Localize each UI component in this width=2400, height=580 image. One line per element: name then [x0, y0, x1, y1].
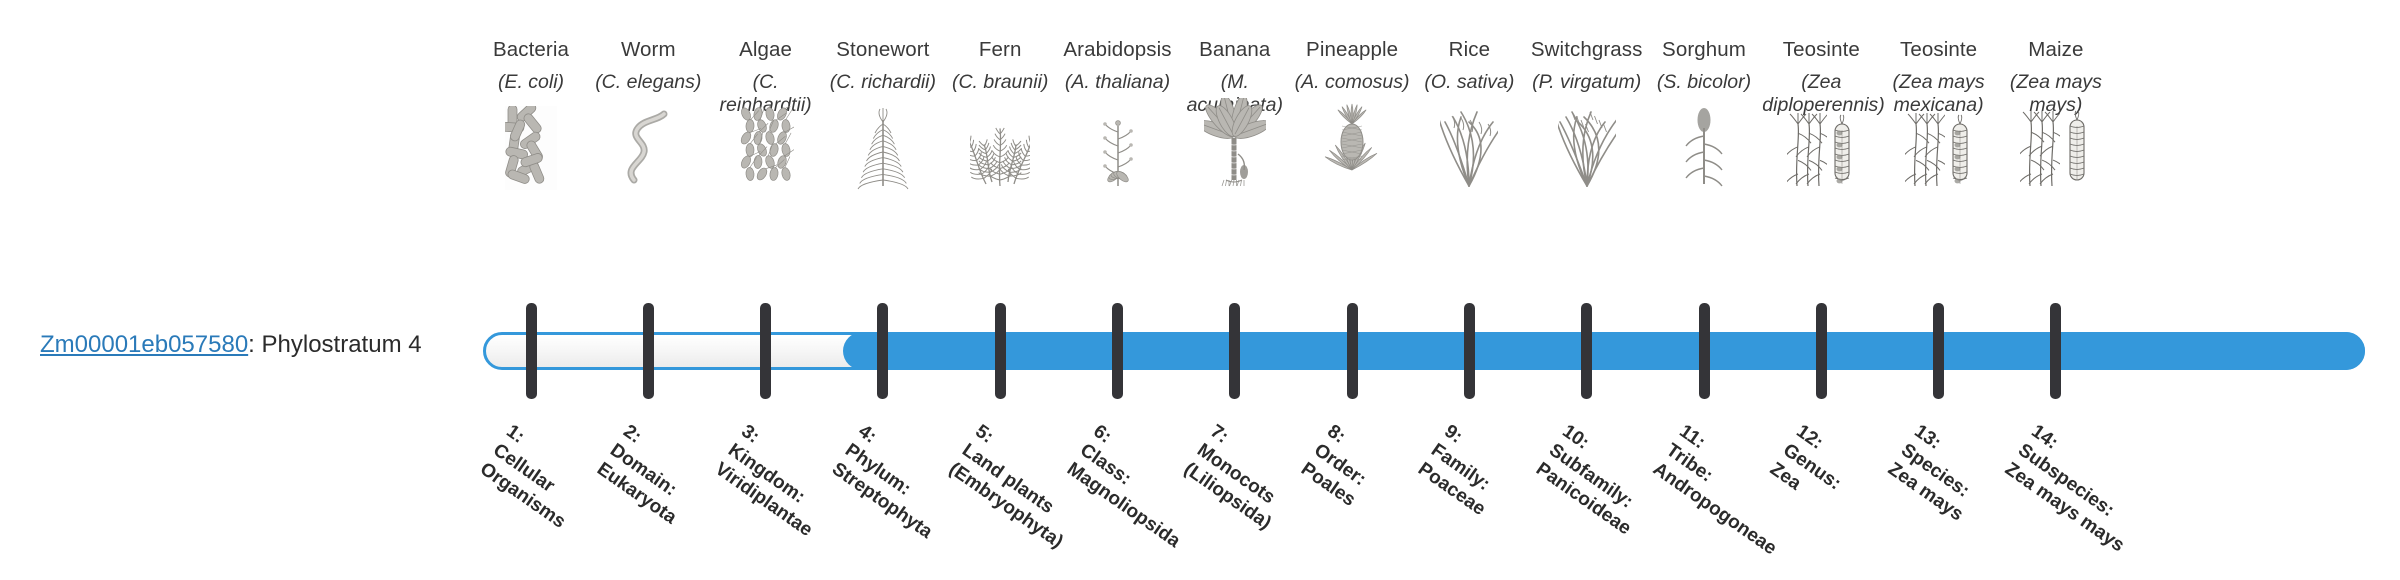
species-scientific-name: (O. sativa): [1410, 71, 1528, 94]
taxonomy-label-4: 4: Phylum: Streptophyta: [827, 420, 963, 544]
taxonomy-label-11: 11: Tribe: Andropogoneae: [1648, 420, 1807, 560]
label-separator: :: [248, 331, 261, 358]
gene-id-link[interactable]: Zm00001eb057580: [40, 331, 248, 358]
phylostratum-timeline: Zm00001eb057580: Phylostratum 4 Bacteria…: [0, 0, 2400, 580]
species-column-fern-5: Fern(C. braunii): [941, 38, 1059, 94]
species-common-name: Banana: [1176, 38, 1294, 62]
organism-illustration-fern-icon: [941, 100, 1059, 190]
tick-mark-12: [1816, 303, 1827, 399]
species-scientific-name: (C. elegans): [589, 71, 707, 94]
gene-phylostratum-label: Zm00001eb057580: Phylostratum 4: [40, 331, 422, 359]
organism-illustration-stonewort-icon: [824, 100, 942, 190]
tick-mark-11: [1699, 303, 1710, 399]
taxonomy-label-3: 3: Kingdom: Viridiplantae: [710, 420, 843, 542]
species-common-name: Maize: [1997, 38, 2115, 62]
species-scientific-name: (C. richardii): [824, 71, 942, 94]
taxonomy-label-8: 8: Order: Poales: [1297, 420, 1387, 512]
taxonomy-label-7: 7: Monocots (Liliopsida): [1179, 420, 1302, 535]
organism-illustration-rice-icon: [1410, 100, 1528, 190]
species-common-name: Worm: [589, 38, 707, 62]
species-scientific-name: (C. braunii): [941, 71, 1059, 94]
species-scientific-name: (E. coli): [472, 71, 590, 94]
tick-mark-7: [1229, 303, 1240, 399]
organism-illustration-sorghum-icon: [1645, 100, 1763, 190]
organism-illustration-pineapple-icon: [1293, 100, 1411, 190]
organism-illustration-teosinte-cob-icon: [1762, 100, 1880, 190]
species-scientific-name: (S. bicolor): [1645, 71, 1763, 94]
organism-illustration-bacteria-icon: [472, 100, 590, 190]
tick-mark-4: [877, 303, 888, 399]
tick-mark-6: [1112, 303, 1123, 399]
organism-illustration-banana-icon: [1176, 100, 1294, 190]
species-common-name: Bacteria: [472, 38, 590, 62]
species-common-name: Stonewort: [824, 38, 942, 62]
species-column-sorghum-11: Sorghum(S. bicolor): [1645, 38, 1763, 94]
tick-mark-8: [1347, 303, 1358, 399]
species-scientific-name: (A. thaliana): [1059, 71, 1177, 94]
species-column-worm-2: Worm(C. elegans): [589, 38, 707, 94]
species-common-name: Rice: [1410, 38, 1528, 62]
taxonomy-label-9: 9: Family: Poaceae: [1414, 420, 1517, 521]
tick-mark-3: [760, 303, 771, 399]
tick-mark-2: [643, 303, 654, 399]
organism-illustration-worm-icon: [589, 100, 707, 190]
organism-illustration-switchgrass-icon: [1528, 100, 1646, 190]
taxonomy-label-5: 5: Land plants (Embryophyta): [945, 420, 1094, 553]
species-common-name: Teosinte: [1762, 38, 1880, 62]
species-common-name: Switchgrass: [1528, 38, 1646, 62]
species-column-bacteria-1: Bacteria(E. coli): [472, 38, 590, 94]
bar-fill: [843, 332, 2365, 370]
organism-illustration-algae-icon: [707, 100, 825, 190]
tick-mark-13: [1933, 303, 1944, 399]
species-column-rice-9: Rice(O. sativa): [1410, 38, 1528, 94]
species-scientific-name: (A. comosus): [1293, 71, 1411, 94]
taxonomy-label-14: 14: Subspecies: Zea mays mays: [2000, 420, 2155, 557]
tick-mark-5: [995, 303, 1006, 399]
organism-illustration-teosinte-cob-icon: [1880, 100, 1998, 190]
phylostratum-value: Phylostratum 4: [262, 331, 422, 358]
species-column-stonewort-4: Stonewort(C. richardii): [824, 38, 942, 94]
taxonomy-label-10: 10: Subfamily: Panicoideae: [1531, 420, 1661, 540]
species-common-name: Fern: [941, 38, 1059, 62]
species-common-name: Arabidopsis: [1059, 38, 1177, 62]
taxonomy-label-6: 6: Class: Magnoliopsida: [1062, 420, 1211, 553]
tick-mark-9: [1464, 303, 1475, 399]
species-column-pineapple-8: Pineapple(A. comosus): [1293, 38, 1411, 94]
taxonomy-label-13: 13: Species: Zea mays: [1883, 420, 1994, 526]
species-common-name: Sorghum: [1645, 38, 1763, 62]
species-common-name: Algae: [707, 38, 825, 62]
tick-mark-1: [526, 303, 537, 399]
taxonomy-label-1: 1: Cellular Organisms: [475, 420, 596, 533]
species-common-name: Teosinte: [1880, 38, 1998, 62]
tick-mark-14: [2050, 303, 2061, 399]
organism-illustration-maize-cob-icon: [1997, 100, 2115, 190]
tick-mark-10: [1581, 303, 1592, 399]
taxonomy-label-2: 2: Domain: Eukaryota: [593, 420, 708, 529]
organism-illustration-arabidopsis-icon: [1059, 100, 1177, 190]
species-column-switchgrass-10: Switchgrass(P. virgatum): [1528, 38, 1646, 94]
species-column-arabidopsis-6: Arabidopsis(A. thaliana): [1059, 38, 1177, 94]
species-scientific-name: (P. virgatum): [1528, 71, 1646, 94]
species-common-name: Pineapple: [1293, 38, 1411, 62]
